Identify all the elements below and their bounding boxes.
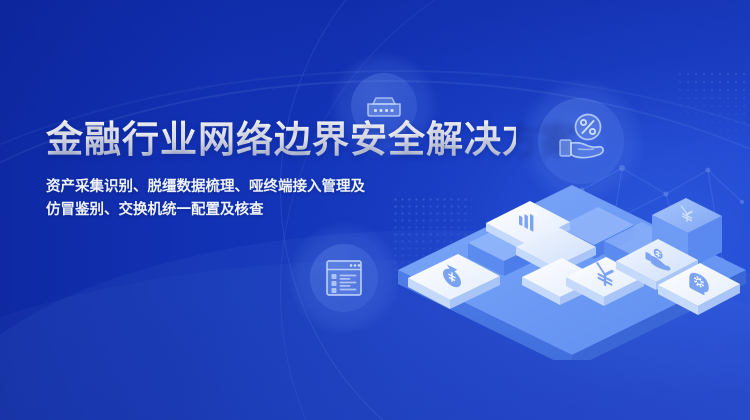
page-title: 金融行业网络边界安全解决方案 xyxy=(46,118,516,162)
page-subtitle: 资产采集识别、脱缰数据梳理、哑终端接入管理及 仿冒鉴别、交换机统一配置及核查 xyxy=(46,176,516,222)
banner-root: 金融行业网络边界安全解决方案 资产采集识别、脱缰数据梳理、哑终端接入管理及 仿冒… xyxy=(0,0,750,420)
server-router-icon xyxy=(360,82,408,130)
document-list-icon xyxy=(321,255,367,301)
subtitle-line-2: 仿冒鉴别、交换机统一配置及核查 xyxy=(46,199,516,222)
subtitle-line-1: 资产采集识别、脱缰数据梳理、哑终端接入管理及 xyxy=(46,176,516,199)
hand-percent-icon xyxy=(550,110,612,172)
halftone-dots-right xyxy=(676,70,750,160)
copy-block: 金融行业网络边界安全解决方案 资产采集识别、脱缰数据梳理、哑终端接入管理及 仿冒… xyxy=(46,118,516,222)
document-badge xyxy=(288,222,400,334)
